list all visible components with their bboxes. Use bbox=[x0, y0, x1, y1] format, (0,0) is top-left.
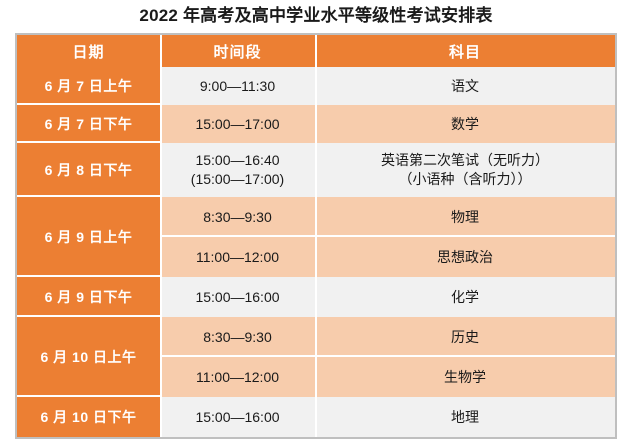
cell-time: 15:00—16:00 bbox=[160, 397, 315, 437]
cell-subject: 化学 bbox=[315, 277, 615, 317]
cell-subject: 地理 bbox=[315, 397, 615, 437]
table-row: 6 月 7 日下午 15:00—17:00 数学 bbox=[17, 105, 615, 143]
cell-date: 6 月 8 日下午 bbox=[17, 143, 160, 197]
table-row: 6 月 10 日下午 15:00—16:00 地理 bbox=[17, 397, 615, 437]
cell-time: 15:00—16:40 (15:00—17:00) bbox=[160, 143, 315, 197]
cell-time: 15:00—16:00 bbox=[160, 277, 315, 317]
cell-time: 15:00—17:00 bbox=[160, 105, 315, 143]
table-header-row: 日期 时间段 科目 bbox=[17, 35, 615, 67]
cell-subject: 生物学 bbox=[315, 357, 615, 397]
cell-date: 6 月 7 日上午 bbox=[17, 67, 160, 105]
schedule-table: 日期 时间段 科目 6 月 7 日上午 9:00—11:30 语文 6 月 7 … bbox=[17, 35, 615, 437]
cell-time: 8:30—9:30 bbox=[160, 317, 315, 357]
cell-subject: 物理 bbox=[315, 197, 615, 237]
cell-date: 6 月 9 日上午 bbox=[17, 197, 160, 277]
column-header-time: 时间段 bbox=[160, 35, 315, 67]
table-row: 6 月 8 日下午 15:00—16:40 (15:00—17:00) 英语第二… bbox=[17, 143, 615, 197]
page-title: 2022 年高考及高中学业水平等级性考试安排表 bbox=[0, 0, 632, 33]
cell-time: 11:00—12:00 bbox=[160, 357, 315, 397]
cell-subject: 英语第二次笔试（无听力） （小语种（含听力）） bbox=[315, 143, 615, 197]
cell-subject: 思想政治 bbox=[315, 237, 615, 277]
cell-time: 8:30—9:30 bbox=[160, 197, 315, 237]
schedule-table-container: 日期 时间段 科目 6 月 7 日上午 9:00—11:30 语文 6 月 7 … bbox=[15, 33, 617, 439]
cell-subject: 数学 bbox=[315, 105, 615, 143]
cell-date: 6 月 10 日上午 bbox=[17, 317, 160, 397]
table-row: 6 月 10 日上午 8:30—9:30 历史 bbox=[17, 317, 615, 357]
cell-subject: 语文 bbox=[315, 67, 615, 105]
cell-date: 6 月 9 日下午 bbox=[17, 277, 160, 317]
column-header-subject: 科目 bbox=[315, 35, 615, 67]
table-row: 6 月 9 日下午 15:00—16:00 化学 bbox=[17, 277, 615, 317]
cell-time: 9:00—11:30 bbox=[160, 67, 315, 105]
column-header-date: 日期 bbox=[17, 35, 160, 67]
table-header: 日期 时间段 科目 bbox=[17, 35, 615, 67]
cell-date: 6 月 7 日下午 bbox=[17, 105, 160, 143]
cell-date: 6 月 10 日下午 bbox=[17, 397, 160, 437]
cell-subject: 历史 bbox=[315, 317, 615, 357]
table-body: 6 月 7 日上午 9:00—11:30 语文 6 月 7 日下午 15:00—… bbox=[17, 67, 615, 437]
cell-time: 11:00—12:00 bbox=[160, 237, 315, 277]
table-row: 6 月 7 日上午 9:00—11:30 语文 bbox=[17, 67, 615, 105]
exam-schedule-page: 2022 年高考及高中学业水平等级性考试安排表 日期 时间段 科目 6 月 7 … bbox=[0, 0, 632, 437]
table-row: 6 月 9 日上午 8:30—9:30 物理 bbox=[17, 197, 615, 237]
